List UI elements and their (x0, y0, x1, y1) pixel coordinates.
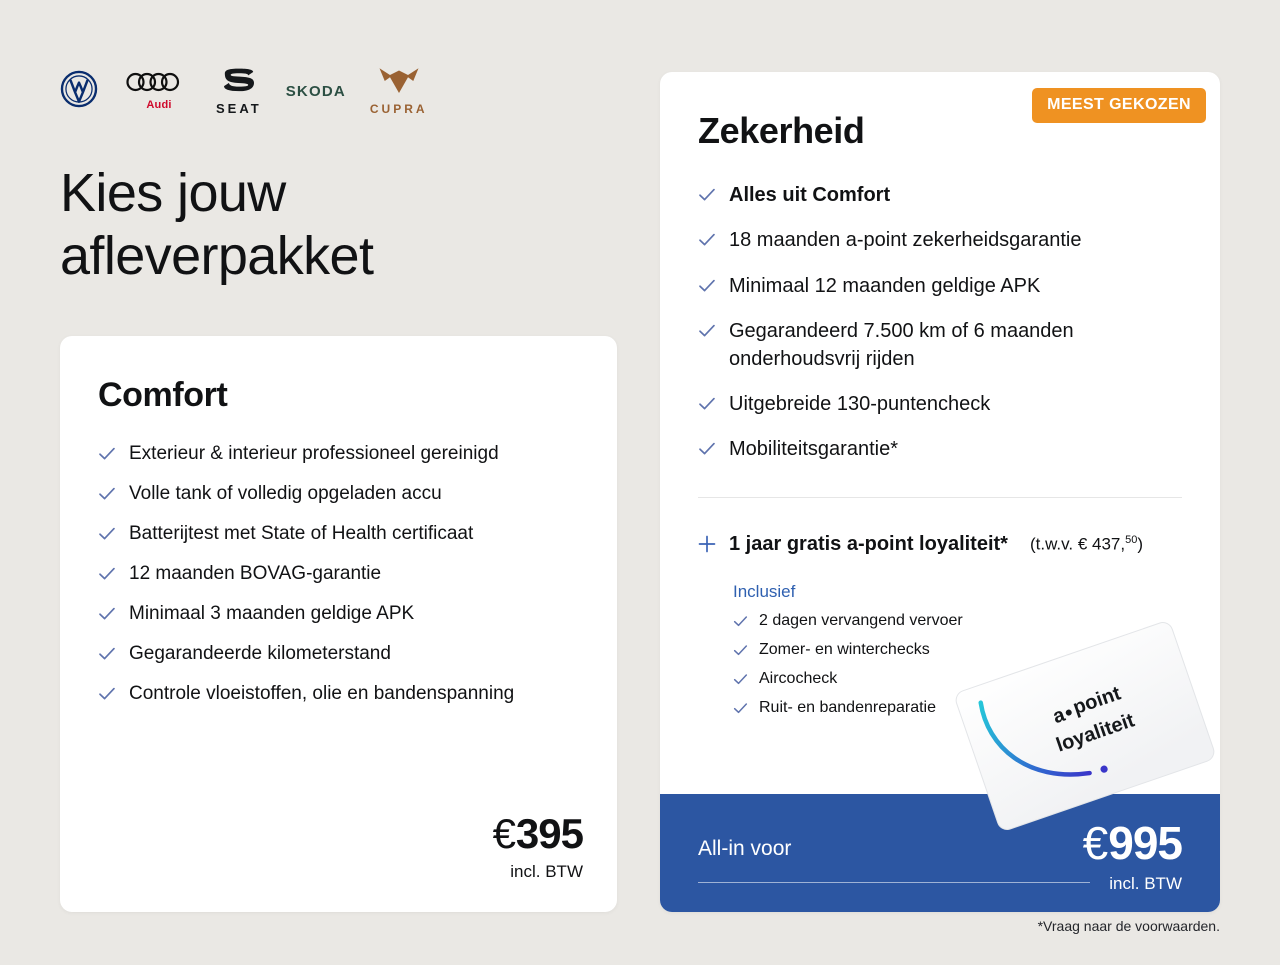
check-icon (698, 186, 716, 204)
cupra-wordmark: CUPRA (370, 102, 428, 116)
list-item-label: Aircocheck (759, 670, 837, 688)
check-icon (98, 605, 116, 623)
list-item-label: Controle vloeistoffen, olie en bandenspa… (129, 681, 514, 707)
check-icon (733, 701, 748, 716)
plus-icon (698, 535, 716, 553)
brand-logo-strip: Audi SEAT SKODA CUPRA (60, 62, 428, 120)
audi-wordmark: Audi (146, 99, 171, 111)
check-icon (698, 322, 716, 340)
check-icon (98, 525, 116, 543)
divider (698, 497, 1182, 498)
seat-wordmark: SEAT (216, 101, 262, 116)
list-item: Mobiliteitsgarantie* (698, 436, 1188, 463)
zekerheid-price-note: incl. BTW (1083, 874, 1182, 894)
check-icon (698, 395, 716, 413)
seat-s-icon (222, 67, 256, 102)
check-icon (698, 440, 716, 458)
vw-logo-icon (60, 70, 98, 113)
list-item-label: Batterijtest met State of Health certifi… (129, 521, 473, 547)
list-item: Minimaal 12 maanden geldige APK (698, 273, 1188, 300)
list-item-label: Volle tank of volledig opgeladen accu (129, 481, 442, 507)
list-item: 18 maanden a-point zekerheidsgarantie (698, 227, 1188, 254)
price-rule (698, 882, 1090, 883)
comfort-price-note: incl. BTW (493, 862, 583, 882)
list-item-label: Mobiliteitsgarantie* (729, 436, 898, 463)
zekerheid-title: Zekerheid (698, 110, 864, 152)
comfort-price-value: 395 (516, 810, 583, 857)
brand-logo-skoda: SKODA (286, 83, 346, 100)
list-item: Uitgebreide 130-puntencheck (698, 391, 1188, 418)
check-icon (98, 485, 116, 503)
loyalty-title: 1 jaar gratis a-point loyaliteit* (729, 533, 1008, 556)
brand-logo-cupra: CUPRA (370, 66, 428, 116)
check-icon (98, 645, 116, 663)
list-item: Exterieur & interieur professioneel gere… (98, 441, 568, 467)
inclusief-label: Inclusief (733, 582, 795, 602)
list-item: Gegarandeerd 7.500 km of 6 maanden onder… (698, 318, 1188, 373)
skoda-wordmark: SKODA (286, 83, 346, 100)
list-item: Volle tank of volledig opgeladen accu (98, 481, 568, 507)
list-item: Batterijtest met State of Health certifi… (98, 521, 568, 547)
zekerheid-price: €995 (1083, 820, 1182, 866)
cupra-logo-icon (378, 66, 420, 101)
zekerheid-price-block: €995 incl. BTW (1083, 820, 1182, 894)
zekerheid-price-value: 995 (1108, 817, 1182, 869)
list-item: Zomer- en winterchecks (733, 641, 1063, 659)
check-icon (733, 643, 748, 658)
comfort-title: Comfort (98, 376, 227, 415)
loyalty-value-cents: 50 (1125, 534, 1137, 546)
list-item-label: Ruit- en bandenreparatie (759, 699, 936, 717)
list-item-label: Zomer- en winterchecks (759, 641, 930, 659)
loyalty-value: (t.w.v. € 437,50) (1030, 534, 1143, 555)
loyalty-heading: 1 jaar gratis a-point loyaliteit* (t.w.v… (698, 532, 1143, 556)
page-title: Kies jouw afleverpakket (60, 162, 373, 287)
package-card-zekerheid[interactable]: MEEST GEKOZEN Zekerheid Alles uit Comfor… (660, 72, 1220, 912)
status-badge: MEEST GEKOZEN (1032, 88, 1206, 123)
list-item: 2 dagen vervangend vervoer (733, 612, 1063, 630)
currency-symbol: € (493, 810, 515, 857)
list-item: Minimaal 3 maanden geldige APK (98, 601, 568, 627)
list-item: Controle vloeistoffen, olie en bandenspa… (98, 681, 568, 707)
zekerheid-feature-list: Alles uit Comfort 18 maanden a-point zek… (698, 182, 1188, 482)
check-icon (698, 231, 716, 249)
check-icon (698, 277, 716, 295)
brand-logo-audi: Audi (126, 71, 192, 111)
check-icon (733, 672, 748, 687)
list-item: Gegarandeerde kilometerstand (98, 641, 568, 667)
list-item-label: 2 dagen vervangend vervoer (759, 612, 963, 630)
list-item-label: Alles uit Comfort (729, 182, 890, 209)
list-item-label: Gegarandeerde kilometerstand (129, 641, 391, 667)
comfort-price: €395 (493, 813, 583, 855)
zekerheid-price-bar: All-in voor €995 incl. BTW (660, 794, 1220, 912)
list-item-label: Uitgebreide 130-puntencheck (729, 391, 990, 418)
check-icon (733, 614, 748, 629)
list-item-label: Exterieur & interieur professioneel gere… (129, 441, 499, 467)
allin-label: All-in voor (698, 837, 791, 861)
check-icon (98, 685, 116, 703)
audi-rings-icon (126, 71, 192, 98)
comfort-feature-list: Exterieur & interieur professioneel gere… (98, 441, 568, 721)
loyalty-value-prefix: (t.w.v. € 437, (1030, 535, 1125, 554)
list-item-label: Minimaal 12 maanden geldige APK (729, 273, 1040, 300)
check-icon (98, 445, 116, 463)
loyalty-value-suffix: ) (1137, 535, 1143, 554)
brand-logo-volkswagen (60, 70, 98, 113)
list-item: Alles uit Comfort (698, 182, 1188, 209)
check-icon (98, 565, 116, 583)
list-item-label: Minimaal 3 maanden geldige APK (129, 601, 414, 627)
list-item-label: Gegarandeerd 7.500 km of 6 maanden onder… (729, 318, 1188, 373)
list-item: 12 maanden BOVAG-garantie (98, 561, 568, 587)
brand-logo-seat: SEAT (216, 67, 262, 116)
list-item-label: 12 maanden BOVAG-garantie (129, 561, 381, 587)
currency-symbol: € (1083, 817, 1108, 869)
list-item-label: 18 maanden a-point zekerheidsgarantie (729, 227, 1081, 254)
package-card-comfort[interactable]: Comfort Exterieur & interieur profession… (60, 336, 617, 912)
comfort-price-block: €395 incl. BTW (493, 813, 583, 882)
footnote: *Vraag naar de voorwaarden. (1038, 918, 1220, 934)
